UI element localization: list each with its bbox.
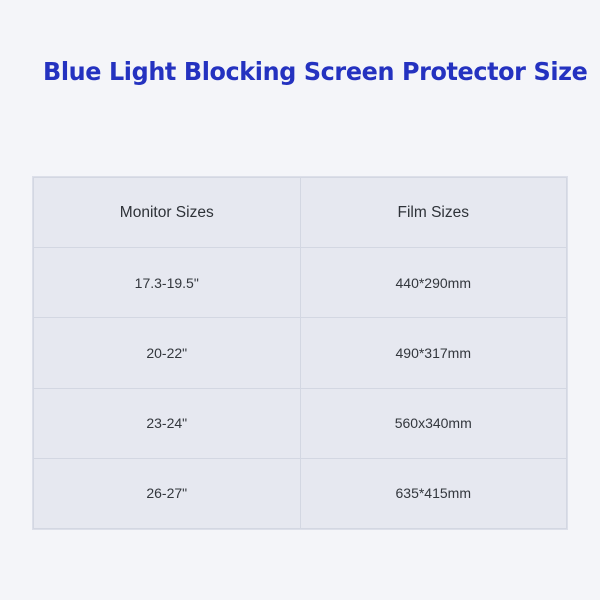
table-header-row: Monitor Sizes Film Sizes	[34, 178, 567, 248]
cell-monitor-size: 26-27"	[34, 458, 301, 528]
cell-film-size: 490*317mm	[300, 318, 567, 388]
page-title: Blue Light Blocking Screen Protector Siz…	[43, 56, 540, 88]
table-row: 17.3-19.5" 440*290mm	[34, 248, 567, 318]
cell-monitor-size: 17.3-19.5"	[34, 248, 301, 318]
column-header-film-sizes: Film Sizes	[300, 178, 567, 248]
cell-film-size: 635*415mm	[300, 458, 567, 528]
table-body: 17.3-19.5" 440*290mm 20-22" 490*317mm 23…	[34, 248, 567, 529]
cell-film-size: 440*290mm	[300, 248, 567, 318]
column-header-monitor-sizes: Monitor Sizes	[34, 178, 301, 248]
table-row: 23-24" 560x340mm	[34, 388, 567, 458]
cell-monitor-size: 20-22"	[34, 318, 301, 388]
table-header: Monitor Sizes Film Sizes	[34, 178, 567, 248]
screen-protector-size-table: Monitor Sizes Film Sizes 17.3-19.5" 440*…	[33, 177, 567, 529]
cell-film-size: 560x340mm	[300, 388, 567, 458]
cell-monitor-size: 23-24"	[34, 388, 301, 458]
page-root: Blue Light Blocking Screen Protector Siz…	[0, 0, 600, 600]
table-row: 26-27" 635*415mm	[34, 458, 567, 528]
table-row: 20-22" 490*317mm	[34, 318, 567, 388]
